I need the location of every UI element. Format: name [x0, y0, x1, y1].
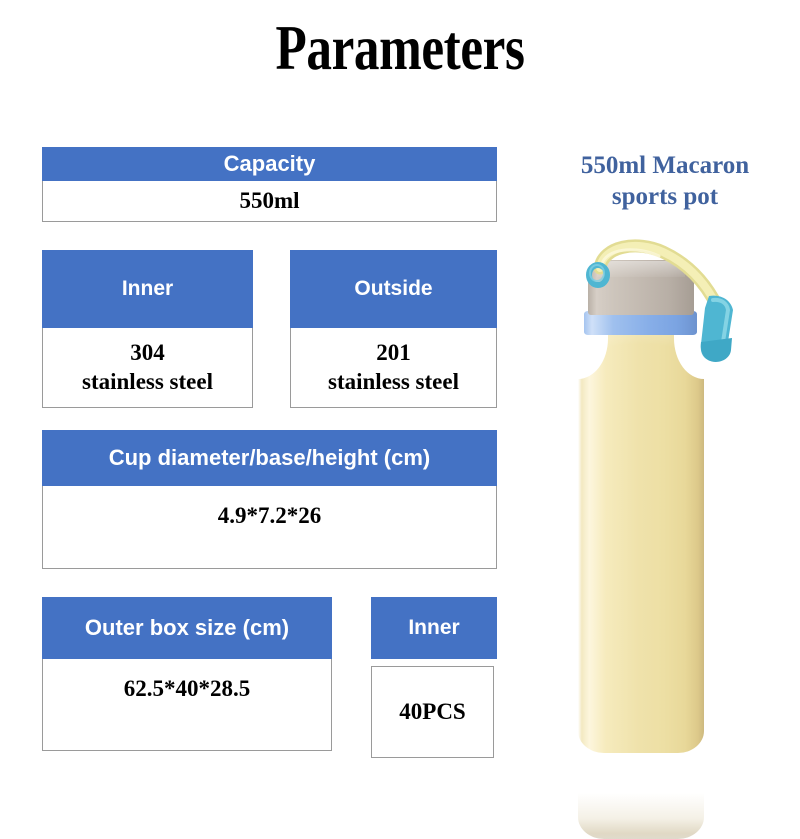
spec-value-outside-grade: 201 — [376, 339, 411, 367]
spec-value-capacity: 550ml — [42, 181, 497, 222]
product-name-line2: sports pot — [540, 181, 790, 212]
spec-block-outside-material: Outside 201 stainless steel — [290, 250, 497, 408]
bottle-strap-clip-tip — [701, 338, 732, 362]
spec-value-inner-quantity: 40PCS — [371, 666, 494, 758]
spec-value-outside-material: 201 stainless steel — [290, 328, 497, 408]
spec-value-inner-material: 304 stainless steel — [42, 328, 253, 408]
spec-block-inner-quantity: Inner 40PCS — [371, 597, 497, 758]
product-parameters-page: Parameters Capacity 550ml Inner 304 stai… — [0, 0, 800, 800]
spec-block-inner-material: Inner 304 stainless steel — [42, 250, 253, 408]
spec-value-outside-steel: stainless steel — [328, 368, 459, 396]
product-image-water-bottle — [545, 238, 760, 763]
bottle-strap-group — [545, 238, 760, 763]
spec-block-cup-dimensions: Cup diameter/base/height (cm) 4.9*7.2*26 — [42, 430, 497, 569]
spec-header-capacity: Capacity — [42, 147, 497, 181]
spec-block-capacity: Capacity 550ml — [42, 147, 497, 222]
spec-header-inner-quantity: Inner — [371, 597, 497, 659]
spec-value-cup-dimensions: 4.9*7.2*26 — [42, 486, 497, 569]
spec-header-outer-box-size: Outer box size (cm) — [42, 597, 332, 659]
product-name-line1: 550ml Macaron — [540, 150, 790, 181]
spec-value-inner-steel: stainless steel — [82, 368, 213, 396]
page-title: Parameters — [80, 12, 720, 84]
spec-value-inner-grade: 304 — [130, 339, 165, 367]
spec-block-outer-box-size: Outer box size (cm) 62.5*40*28.5 — [42, 597, 332, 751]
spec-header-inner: Inner — [42, 250, 253, 328]
spec-value-outer-box-size: 62.5*40*28.5 — [42, 659, 332, 751]
spec-header-outside: Outside — [290, 250, 497, 328]
spec-header-cup-dimensions: Cup diameter/base/height (cm) — [42, 430, 497, 486]
product-name-label: 550ml Macaron sports pot — [540, 150, 790, 212]
